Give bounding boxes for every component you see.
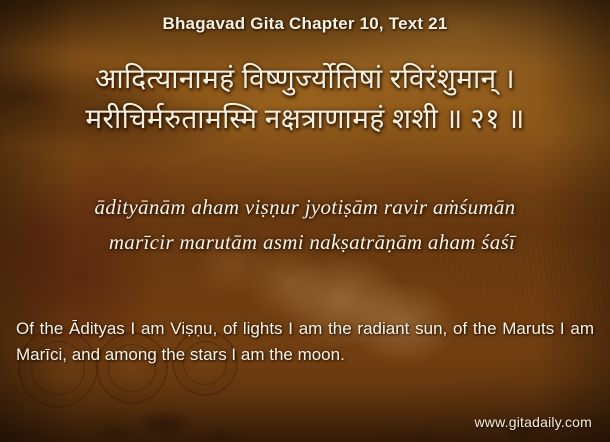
transliteration-line-1: ādityānām aham viṣṇur jyotiṣām ravir aṁś…	[0, 190, 610, 225]
gita-verse-card: Bhagavad Gita Chapter 10, Text 21 आदित्य…	[0, 0, 610, 442]
website-url: www.gitadaily.com	[474, 414, 592, 430]
translation-text: Of the Ādityas I am Viṣṇu, of lights I a…	[16, 316, 594, 368]
page-title: Bhagavad Gita Chapter 10, Text 21	[0, 14, 610, 34]
sanskrit-line-2: मरीचिर्मरुतामस्मि नक्षत्राणामहं शशी ॥ २१…	[0, 100, 610, 140]
transliteration-verse: ādityānām aham viṣṇur jyotiṣām ravir aṁś…	[0, 190, 610, 259]
sanskrit-verse: आदित्यानामहं विष्णुर्ज्योतिषां रविरंशुमा…	[0, 60, 610, 140]
transliteration-line-2: marīcir marutām asmi nakṣatrāṇām aham śa…	[0, 225, 610, 260]
sanskrit-line-1: आदित्यानामहं विष्णुर्ज्योतिषां रविरंशुमा…	[0, 60, 610, 100]
verse-content: Bhagavad Gita Chapter 10, Text 21 आदित्य…	[0, 0, 610, 442]
